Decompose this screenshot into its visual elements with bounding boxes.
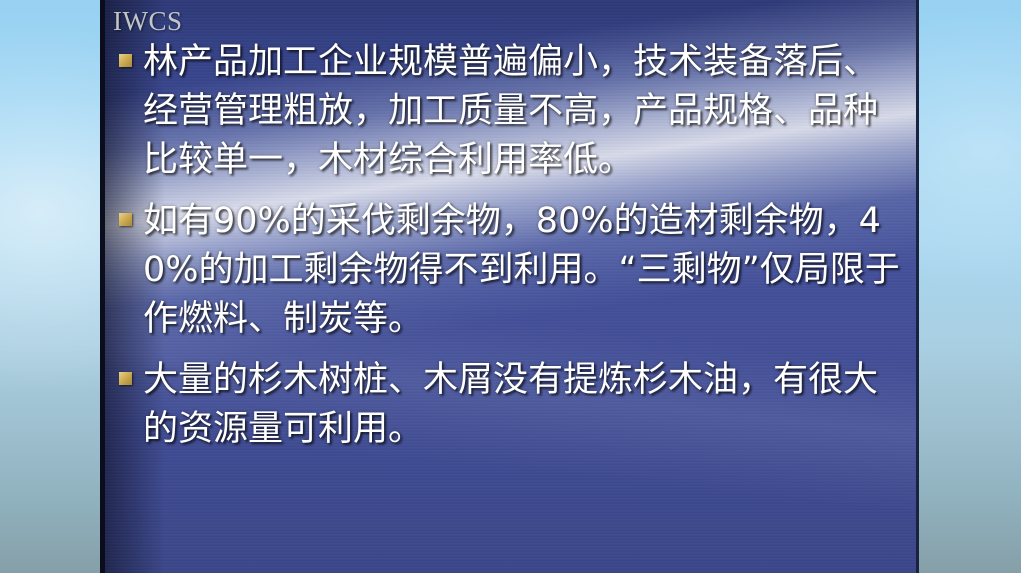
bullet-paragraph-1: 林产品加工企业规模普遍偏小，技术装备落后、经营管理粗放，加工质量不高，产品规格、… — [143, 38, 910, 185]
bullet-paragraph-3: 大量的杉木树桩、木屑没有提炼杉木油，有很大的资源量可利用。 — [143, 356, 910, 454]
square-bullet-icon — [119, 372, 132, 385]
list-item: 林产品加工企业规模普遍偏小，技术装备落后、经营管理粗放，加工质量不高，产品规格、… — [119, 38, 910, 185]
square-bullet-icon — [119, 213, 132, 226]
slide-bullet-list: 林产品加工企业规模普遍偏小，技术装备落后、经营管理粗放，加工质量不高，产品规格、… — [119, 38, 910, 466]
slide-content: IWCS 林产品加工企业规模普遍偏小，技术装备落后、经营管理粗放，加工质量不高，… — [105, 0, 916, 573]
bullet-paragraph-2: 如有90%的采伐剩余物，80%的造材剩余物，40%的加工剩余物得不到利用。“三剩… — [143, 197, 910, 344]
list-item: 大量的杉木树桩、木屑没有提炼杉木油，有很大的资源量可利用。 — [119, 356, 910, 454]
square-bullet-icon — [119, 54, 132, 67]
list-item: 如有90%的采伐剩余物，80%的造材剩余物，40%的加工剩余物得不到利用。“三剩… — [119, 197, 910, 344]
presentation-slide: IWCS 林产品加工企业规模普遍偏小，技术装备落后、经营管理粗放，加工质量不高，… — [100, 0, 919, 573]
projection-scene: IWCS 林产品加工企业规模普遍偏小，技术装备落后、经营管理粗放，加工质量不高，… — [0, 0, 1021, 573]
slide-header-title: IWCS — [113, 6, 183, 37]
